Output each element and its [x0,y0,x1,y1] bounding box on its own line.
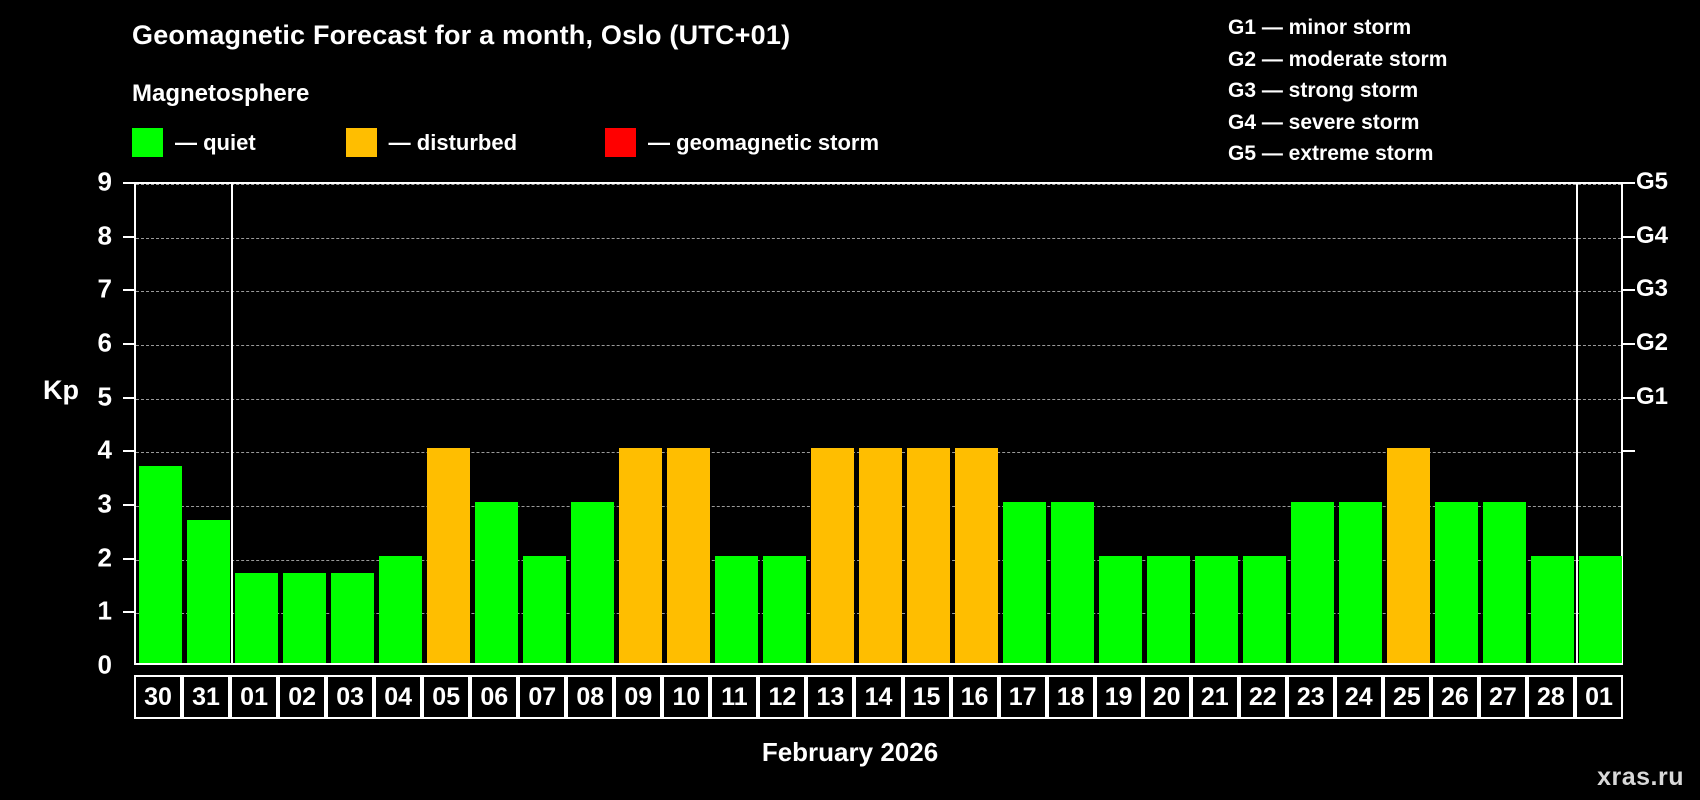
date-label-21-22: 21 [1191,675,1239,719]
date-label-06-7: 06 [470,675,518,719]
date-label-22-23: 22 [1239,675,1287,719]
bar-13 [811,448,854,663]
legend-entry-geomagnetic-storm: — geomagnetic storm [605,128,879,157]
y-tick-label-5: 5 [82,381,112,412]
g-legend-row-2: G2 — moderate storm [1228,44,1447,76]
bar-12 [763,556,806,663]
y-tick-label-9: 9 [82,167,112,198]
g-scale-legend: G1 — minor stormG2 — moderate stormG3 — … [1228,12,1447,170]
g-legend-row-4: G4 — severe storm [1228,107,1447,139]
g-tick-mark-kp4 [1623,450,1635,452]
bar-11 [715,556,758,663]
bar-27 [1483,502,1526,663]
y-tick-label-6: 6 [82,328,112,359]
g-tick-mark-G4 [1623,236,1635,238]
bar-26 [1435,502,1478,663]
date-label-26-27: 26 [1431,675,1479,719]
y-tick-mark-9 [123,182,134,184]
date-label-19-20: 19 [1095,675,1143,719]
bar-05 [427,448,470,663]
date-label-18-19: 18 [1047,675,1095,719]
date-label-09-10: 09 [614,675,662,719]
bar-18 [1051,502,1094,663]
date-label-03-4: 03 [326,675,374,719]
g-axis-label-G4: G4 [1636,222,1668,250]
date-label-28-29: 28 [1527,675,1575,719]
bar-04 [379,556,422,663]
g-axis-label-G5: G5 [1636,168,1668,196]
date-label-01-30: 01 [1575,675,1623,719]
bar-02 [283,573,326,663]
bar-25 [1387,448,1430,663]
bar-01 [235,573,278,663]
bar-24 [1339,502,1382,663]
series-label: Magnetosphere [132,80,309,108]
y-axis-title: Kp [43,375,79,406]
bar-30 [139,466,182,663]
date-label-08-9: 08 [566,675,614,719]
legend-label-geomagnetic-storm: — geomagnetic storm [648,130,879,156]
legend-swatch-disturbed [346,128,377,157]
month-divider [1576,184,1578,663]
bar-15 [907,448,950,663]
month-divider [231,184,233,663]
bar-28 [1531,556,1574,663]
g-axis-labels: G1G2G3G4G5 [1636,182,1696,665]
g-legend-row-3: G3 — strong storm [1228,75,1447,107]
x-axis-title: February 2026 [0,737,1700,768]
date-label-30-0: 30 [134,675,182,719]
plot-area [134,182,1623,665]
date-label-25-26: 25 [1383,675,1431,719]
date-label-24-25: 24 [1335,675,1383,719]
y-tick-mark-4 [123,450,134,452]
date-label-31-1: 31 [182,675,230,719]
date-label-23-24: 23 [1287,675,1335,719]
bar-07 [523,556,566,663]
bars-layer [136,184,1621,663]
date-label-20-21: 20 [1143,675,1191,719]
bar-08 [571,502,614,663]
y-tick-label-0: 0 [82,650,112,681]
date-label-17-18: 17 [999,675,1047,719]
y-tick-mark-1 [123,611,134,613]
date-label-15-16: 15 [903,675,951,719]
bar-09 [619,448,662,663]
watermark: xras.ru [1597,763,1684,792]
bar-21 [1195,556,1238,663]
y-tick-mark-2 [123,558,134,560]
legend-entry-quiet: — quiet [132,128,256,157]
bar-01 [1579,556,1622,663]
y-tick-mark-5 [123,397,134,399]
date-label-01-2: 01 [230,675,278,719]
date-label-27-28: 27 [1479,675,1527,719]
g-tick-mark-G5 [1623,182,1635,184]
bar-06 [475,502,518,663]
y-tick-label-4: 4 [82,435,112,466]
g-axis-label-G1: G1 [1636,383,1668,411]
legend-label-disturbed: — disturbed [389,130,517,156]
bar-23 [1291,502,1334,663]
y-tick-label-3: 3 [82,489,112,520]
bar-17 [1003,502,1046,663]
y-tick-label-7: 7 [82,274,112,305]
g-legend-row-5: G5 — extreme storm [1228,138,1447,170]
bar-03 [331,573,374,663]
g-tick-mark-G2 [1623,343,1635,345]
date-label-13-14: 13 [806,675,854,719]
date-label-12-13: 12 [758,675,806,719]
g-axis-label-G3: G3 [1636,275,1668,303]
date-label-10-11: 10 [662,675,710,719]
y-tick-mark-6 [123,343,134,345]
g-tick-mark-G3 [1623,289,1635,291]
page-title: Geomagnetic Forecast for a month, Oslo (… [132,20,790,51]
g-axis-label-G2: G2 [1636,329,1668,357]
g-legend-row-1: G1 — minor storm [1228,12,1447,44]
color-legend: — quiet— disturbed— geomagnetic storm [132,128,879,157]
legend-label-quiet: — quiet [175,130,256,156]
date-label-14-15: 14 [854,675,902,719]
date-label-16-17: 16 [951,675,999,719]
bar-10 [667,448,710,663]
y-tick-mark-7 [123,289,134,291]
g-tick-mark-G1 [1623,397,1635,399]
y-tick-label-2: 2 [82,542,112,573]
legend-entry-disturbed: — disturbed [346,128,517,157]
bar-19 [1099,556,1142,663]
date-label-11-12: 11 [710,675,758,719]
legend-swatch-geomagnetic-storm [605,128,636,157]
date-label-04-5: 04 [374,675,422,719]
date-label-05-6: 05 [422,675,470,719]
bar-31 [187,520,230,663]
y-tick-label-8: 8 [82,220,112,251]
date-label-02-3: 02 [278,675,326,719]
y-tick-label-1: 1 [82,596,112,627]
date-axis: 3031010203040506070809101112131415161718… [134,675,1623,719]
legend-swatch-quiet [132,128,163,157]
bar-20 [1147,556,1190,663]
bar-22 [1243,556,1286,663]
date-label-07-8: 07 [518,675,566,719]
bar-16 [955,448,998,663]
y-tick-mark-8 [123,236,134,238]
y-axis-tick-labels: 0123456789 [78,182,112,665]
bar-14 [859,448,902,663]
y-axis-tick-marks [123,182,134,665]
y-tick-mark-3 [123,504,134,506]
